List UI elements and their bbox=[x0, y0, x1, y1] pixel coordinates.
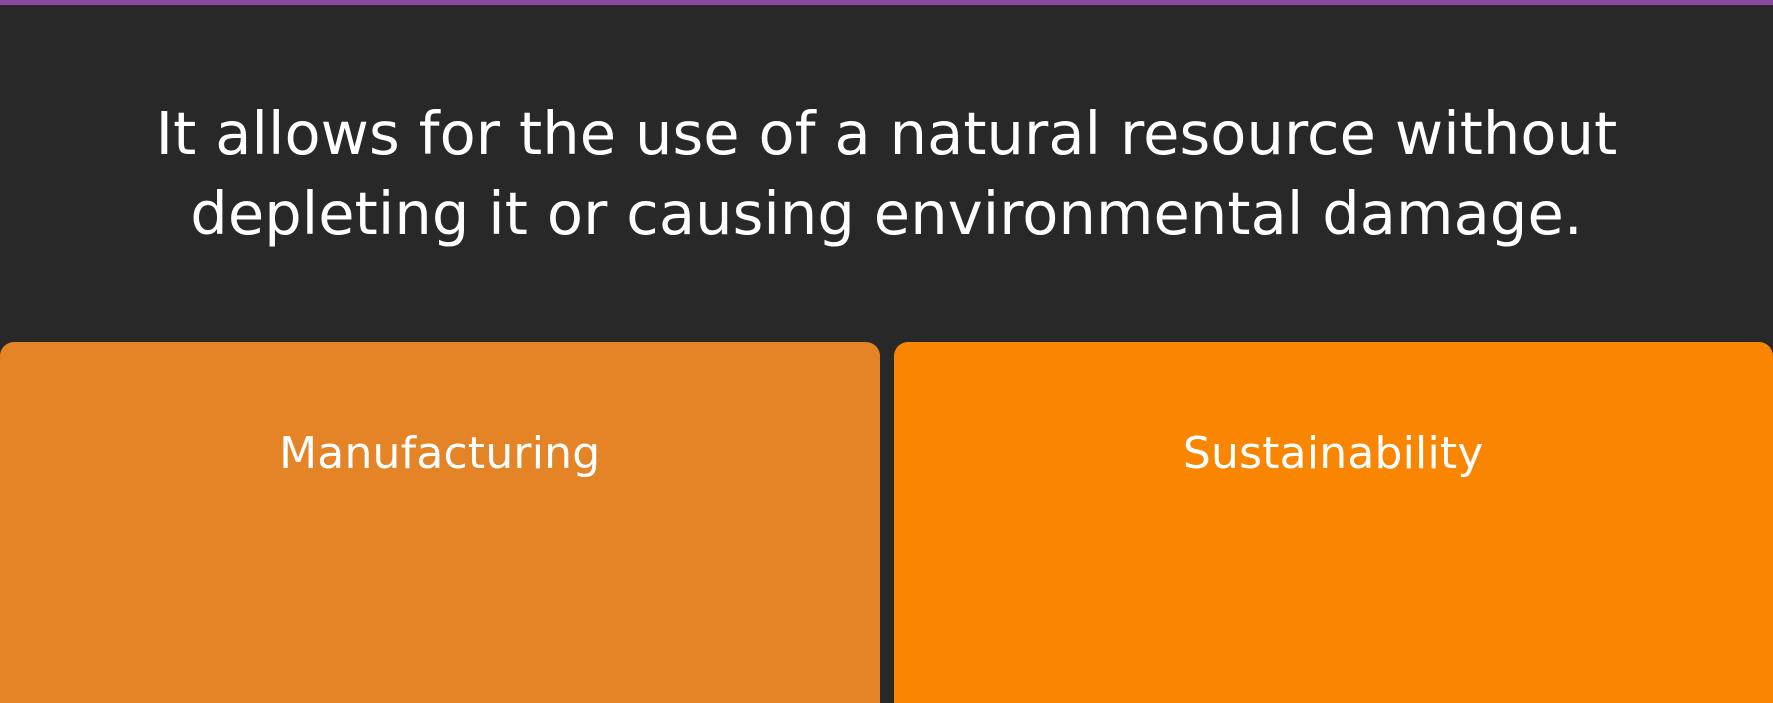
question-prompt: It allows for the use of a natural resou… bbox=[152, 94, 1622, 253]
answer-option-label: Manufacturing bbox=[279, 428, 600, 481]
answer-option-manufacturing[interactable]: Manufacturing bbox=[0, 342, 880, 703]
answer-option-sustainability[interactable]: Sustainability bbox=[894, 342, 1773, 703]
progress-bar bbox=[0, 0, 1773, 5]
answer-option-label: Sustainability bbox=[1183, 428, 1484, 481]
progress-bar-fill bbox=[0, 0, 1773, 5]
answer-options-list: Manufacturing Sustainability bbox=[0, 342, 1773, 703]
question-panel: It allows for the use of a natural resou… bbox=[0, 5, 1773, 342]
quiz-screen: It allows for the use of a natural resou… bbox=[0, 0, 1773, 703]
